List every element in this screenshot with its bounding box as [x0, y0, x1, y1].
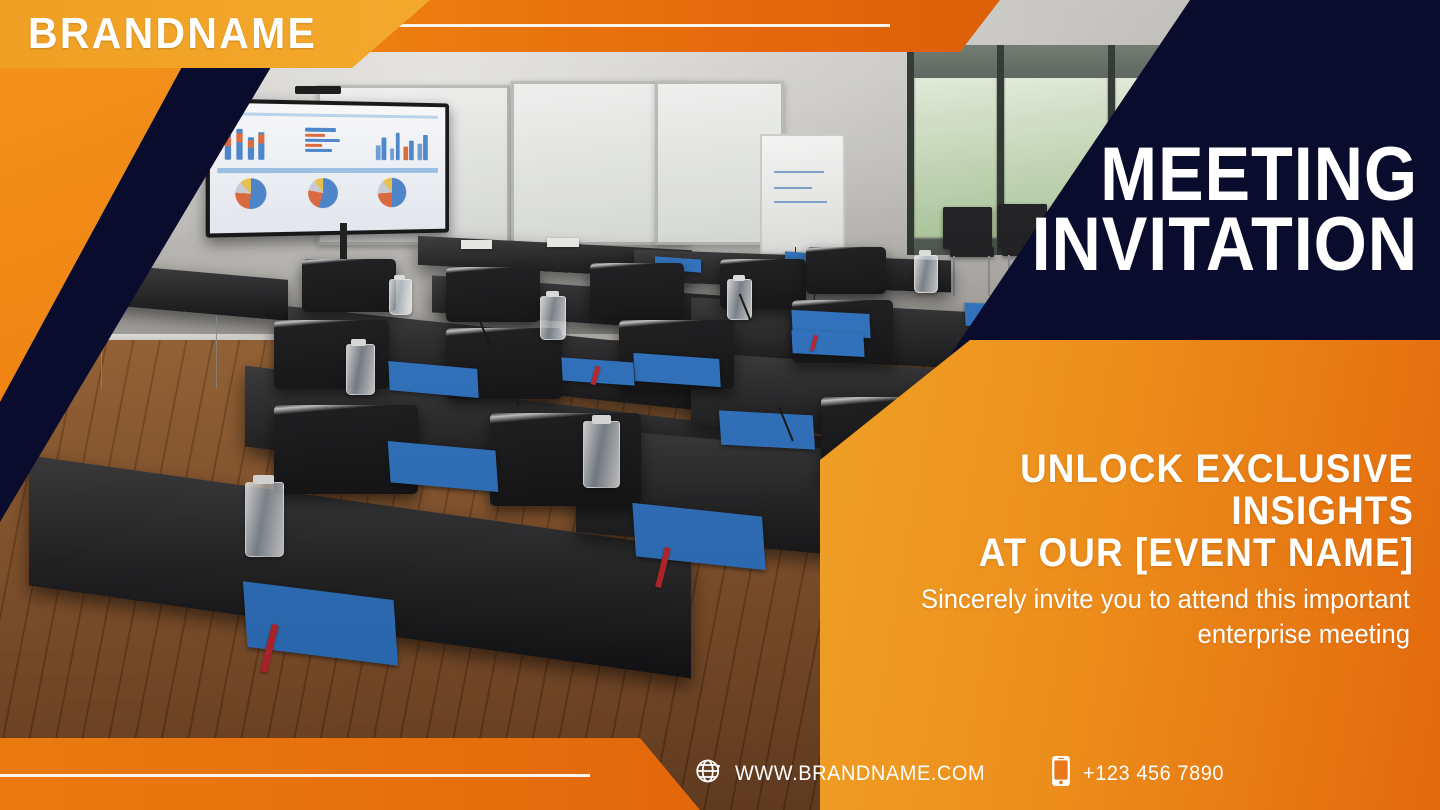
water-bottle: [540, 296, 566, 340]
phone-text: +123 456 7890: [1083, 762, 1224, 786]
water-bottle: [245, 482, 284, 557]
phone-icon: [1050, 755, 1072, 792]
subtext-line-2: enterprise meeting: [821, 617, 1410, 652]
headline-panel-orange: [820, 340, 1440, 810]
presentation-screen: [205, 99, 448, 238]
pie-chart: [235, 178, 266, 209]
chair: [590, 263, 684, 318]
headline-line-2: AT OUR [EVENT NAME]: [880, 532, 1414, 574]
brand-logo-text: BRANDNAME: [28, 9, 317, 59]
footer-rule: [0, 774, 590, 777]
contact-phone[interactable]: +123 456 7890: [1050, 755, 1232, 792]
invitation-subtext: Sincerely invite you to attend this impo…: [821, 582, 1410, 651]
water-bottle: [389, 279, 413, 315]
contact-bar: WWW.BRANDNAME.COM +123 456 7890: [694, 755, 1232, 792]
header-rule: [352, 24, 890, 27]
globe-icon: [694, 756, 724, 791]
subtext-line-1: Sincerely invite you to attend this impo…: [921, 584, 1410, 614]
meeting-invitation-poster: BRANDNAME MEETING INVITATION UNLOCK EXCL…: [0, 0, 1440, 810]
page-title: MEETING INVITATION: [914, 140, 1418, 280]
water-bottle: [583, 421, 620, 488]
headline-line-1: UNLOCK EXCLUSIVE INSIGHTS: [1020, 447, 1414, 533]
headline: UNLOCK EXCLUSIVE INSIGHTS AT OUR [EVENT …: [880, 448, 1414, 574]
blue-folder: [791, 330, 864, 357]
contact-website[interactable]: WWW.BRANDNAME.COM: [694, 756, 998, 791]
title-line-2: INVITATION: [914, 210, 1418, 280]
flip-chart: [760, 134, 845, 255]
pie-chart: [378, 178, 407, 208]
blue-folder: [719, 411, 815, 450]
pie-chart: [308, 178, 338, 208]
chair: [806, 247, 885, 294]
website-text: WWW.BRANDNAME.COM: [735, 762, 985, 786]
chair: [446, 267, 540, 322]
tv-ceiling-mount: [295, 86, 341, 94]
dashboard-slide: [210, 103, 445, 233]
water-bottle: [346, 344, 375, 395]
chair: [302, 259, 396, 312]
